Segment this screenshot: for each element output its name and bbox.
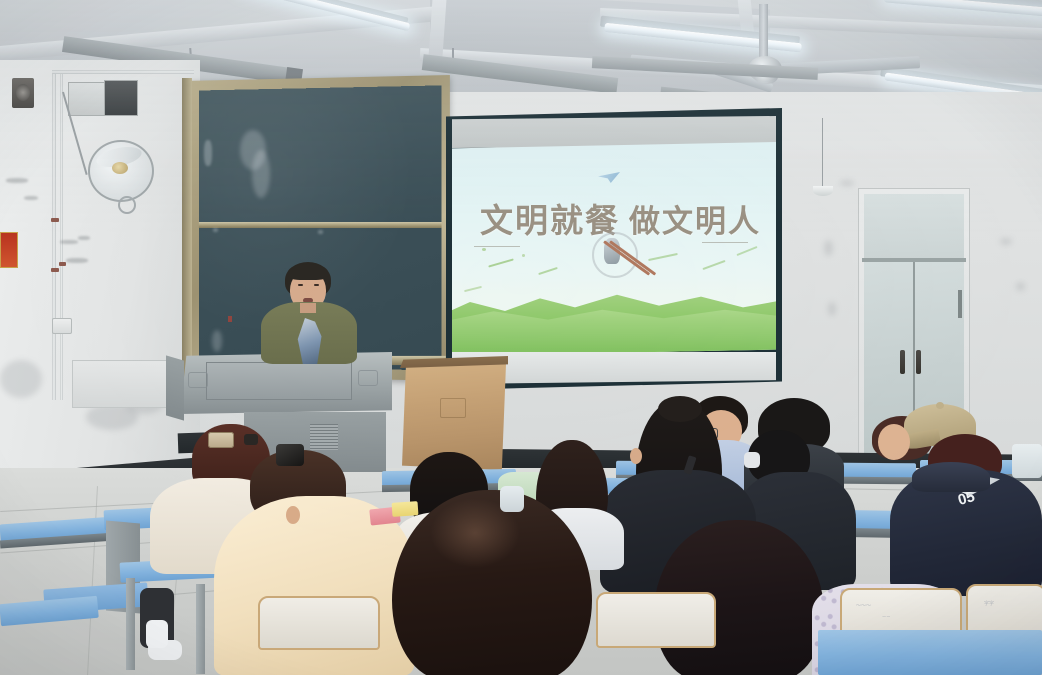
chalk-mark (213, 228, 218, 232)
desk-row-front-right (818, 630, 1042, 675)
wall-fan-bracket (118, 196, 136, 214)
slide-wind-stroke (464, 286, 482, 292)
face-mask (744, 452, 760, 468)
console-logo-right (358, 370, 378, 386)
wall-mark (840, 180, 854, 186)
chalk-smudge (252, 150, 270, 198)
presenter-fringe (288, 264, 328, 280)
teacher-console-side (166, 355, 184, 420)
paper-plane-icon (598, 172, 620, 183)
conduit-clamp (51, 268, 59, 272)
chalkboard-red-mark (228, 316, 232, 322)
teacher-console-inset (206, 362, 352, 400)
slide-wind-stroke (538, 267, 558, 275)
door-transom-window (864, 194, 964, 260)
chair-graffiti: ～～～ (856, 602, 871, 609)
presenter-neck (300, 303, 316, 313)
wall-stain (0, 360, 42, 398)
wall-scuff (78, 236, 90, 240)
slide-wind-stroke (736, 246, 757, 256)
hair-clip (208, 432, 234, 448)
student-ear (286, 506, 300, 524)
slide-title-main: 文明就餐 (480, 194, 620, 242)
wall-mark (828, 302, 836, 316)
jacket-hood (912, 462, 990, 492)
chalk-smudge (212, 330, 222, 352)
hair-clip (244, 434, 258, 445)
slide-divider-right (702, 242, 748, 243)
classroom-photo: 文明就餐 做文明人 (0, 0, 1042, 675)
wall-mark (1016, 282, 1025, 291)
lectern-emblem (440, 398, 466, 418)
door-hinge (958, 290, 962, 318)
wall-fan-hub (112, 162, 128, 174)
slide-divider-left (474, 246, 520, 247)
presenter-eye (314, 284, 319, 286)
conduit-clamp (51, 218, 59, 222)
conduit-clamp (59, 262, 66, 266)
student-ponytail (658, 396, 702, 422)
chalkboard-divider-rail (199, 222, 442, 228)
slide-wind-stroke (648, 253, 678, 261)
chair-graffiti: ∽∽ (882, 614, 890, 620)
desk-leg (196, 584, 205, 674)
cap-button (936, 402, 944, 409)
door-handle-right[interactable] (916, 350, 921, 374)
ceiling-fan-rod (759, 4, 768, 60)
conduit-pipe (52, 70, 194, 74)
student-head (878, 424, 910, 460)
conduit-pipe (52, 70, 56, 400)
student-ear (630, 448, 642, 464)
tote-bag (1012, 444, 1042, 478)
console-logo-left (188, 372, 208, 388)
water-bottle[interactable] (500, 486, 524, 512)
wall-scuff (66, 258, 88, 263)
student-sock (146, 620, 168, 648)
slide-wind-stroke (488, 258, 514, 267)
slide-wind-dot (482, 248, 486, 251)
chalk-smudge (204, 140, 212, 166)
projected-slide: 文明就餐 做文明人 (452, 142, 776, 356)
slide-wind-stroke (702, 260, 725, 270)
electrical-box (104, 80, 138, 116)
chair-back[interactable] (596, 592, 716, 648)
light-switch[interactable] (52, 318, 72, 334)
chair-back[interactable] (258, 596, 380, 650)
hair-bow (276, 444, 304, 466)
wall-speaker-cone (16, 84, 30, 101)
desk-leg (126, 578, 135, 670)
notebook[interactable] (392, 501, 419, 517)
wall-scuff (24, 196, 38, 200)
console-speaker-grille (310, 424, 338, 450)
conduit-pipe (60, 70, 63, 400)
chair-graffiti: 字字 (984, 600, 994, 607)
wall-scuff (60, 240, 78, 244)
chalk-mark (318, 230, 323, 234)
door-handle-left[interactable] (900, 350, 905, 374)
pendant-light (813, 186, 833, 196)
wall-scuff (6, 178, 28, 183)
pendant-light-wire (822, 118, 823, 188)
electrical-box (68, 82, 106, 116)
chalkboard-left-edge (182, 78, 192, 378)
wall-poster (0, 232, 18, 268)
presenter-eye (298, 284, 303, 286)
wall-mark (1000, 238, 1012, 245)
slide-wind-dot (522, 254, 525, 257)
wall-mark (824, 240, 833, 256)
slide-title-sub: 做文明人 (629, 196, 761, 241)
